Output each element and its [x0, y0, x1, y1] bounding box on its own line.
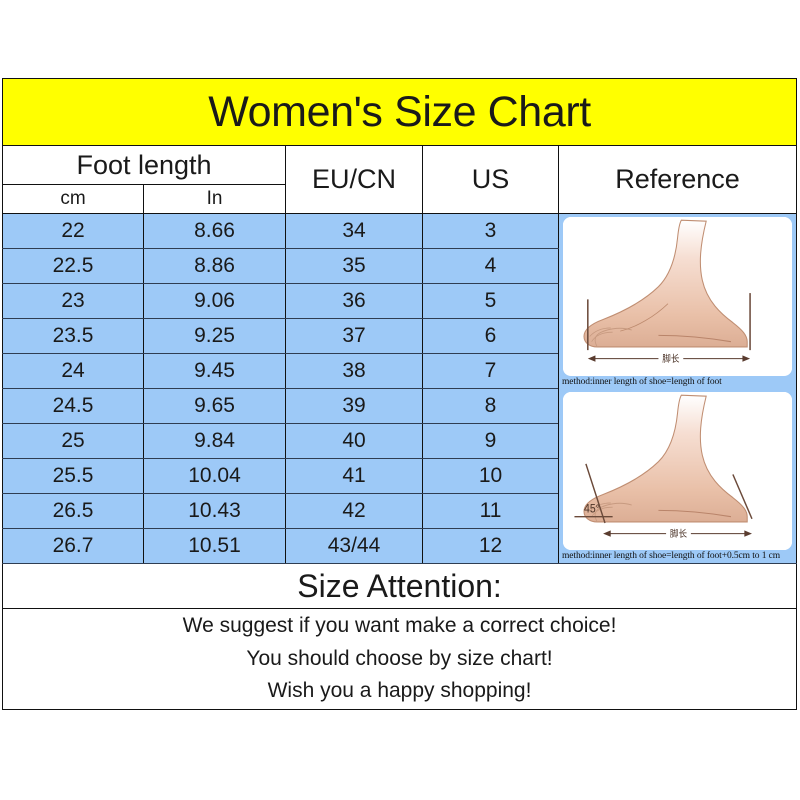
- cell-in: 8.86: [144, 249, 286, 284]
- cell-us: 7: [423, 354, 559, 389]
- svg-text:脚长: 脚长: [662, 352, 679, 364]
- cell-us: 4: [423, 249, 559, 284]
- svg-text:脚长: 脚长: [670, 527, 687, 539]
- reference-diagram-1: 脚长 method:inner length of shoe=length of…: [559, 214, 796, 389]
- cell-in: 9.45: [144, 354, 286, 389]
- size-chart-root: Women's Size Chart Foot length EU/CN US …: [0, 0, 800, 800]
- cell-in: 10.43: [144, 494, 286, 529]
- note-line-1: We suggest if you want make a correct ch…: [3, 610, 796, 643]
- foot-side-view-angled-icon: 45° 脚长: [563, 392, 792, 551]
- cell-eu: 43/44: [286, 529, 423, 564]
- note-line-3: Wish you a happy shopping!: [3, 675, 796, 708]
- header-cm: cm: [3, 185, 144, 214]
- reference-diagram-2: 45° 脚长 method:inner length of shoe=lengt…: [559, 389, 796, 564]
- header-foot-length: Foot length: [3, 146, 286, 185]
- title-row: Women's Size Chart: [3, 79, 797, 146]
- size-attention-notes: We suggest if you want make a correct ch…: [3, 609, 797, 710]
- reference-caption-1: method:inner length of shoe=length of fo…: [559, 376, 796, 389]
- cell-us: 6: [423, 319, 559, 354]
- note-line-2: You should choose by size chart!: [3, 643, 796, 676]
- cell-eu: 42: [286, 494, 423, 529]
- cell-eu: 38: [286, 354, 423, 389]
- page-title: Women's Size Chart: [3, 79, 797, 146]
- cell-in: 10.04: [144, 459, 286, 494]
- reference-column: 脚长 method:inner length of shoe=length of…: [559, 214, 797, 564]
- cell-cm: 22.5: [3, 249, 144, 284]
- cell-us: 12: [423, 529, 559, 564]
- cell-cm: 25.5: [3, 459, 144, 494]
- cell-in: 10.51: [144, 529, 286, 564]
- cell-eu: 34: [286, 214, 423, 249]
- cell-us: 9: [423, 424, 559, 459]
- angle-label: 45°: [584, 503, 600, 516]
- cell-in: 9.65: [144, 389, 286, 424]
- cell-eu: 40: [286, 424, 423, 459]
- attention-heading-row: Size Attention:: [3, 564, 797, 609]
- header-group-row: Foot length EU/CN US Reference: [3, 146, 797, 185]
- cell-in: 9.25: [144, 319, 286, 354]
- cell-eu: 41: [286, 459, 423, 494]
- cell-us: 11: [423, 494, 559, 529]
- foot-side-view-icon: 脚长: [563, 217, 792, 376]
- header-eu-cn: EU/CN: [286, 146, 423, 214]
- cell-in: 9.84: [144, 424, 286, 459]
- cell-cm: 26.7: [3, 529, 144, 564]
- reference-caption-2: method:inner length of shoe=length of fo…: [559, 550, 796, 563]
- size-attention-heading: Size Attention:: [3, 564, 797, 609]
- cell-eu: 37: [286, 319, 423, 354]
- cell-in: 8.66: [144, 214, 286, 249]
- header-us: US: [423, 146, 559, 214]
- cell-cm: 23: [3, 284, 144, 319]
- cell-us: 8: [423, 389, 559, 424]
- size-chart-table: Women's Size Chart Foot length EU/CN US …: [2, 78, 797, 710]
- table-row: 22 8.66 34 3: [3, 214, 797, 249]
- cell-eu: 39: [286, 389, 423, 424]
- cell-us: 10: [423, 459, 559, 494]
- cell-cm: 26.5: [3, 494, 144, 529]
- cell-eu: 36: [286, 284, 423, 319]
- cell-cm: 22: [3, 214, 144, 249]
- cell-cm: 24: [3, 354, 144, 389]
- cell-us: 5: [423, 284, 559, 319]
- cell-in: 9.06: [144, 284, 286, 319]
- attention-notes-row: We suggest if you want make a correct ch…: [3, 609, 797, 710]
- header-reference: Reference: [559, 146, 797, 214]
- cell-us: 3: [423, 214, 559, 249]
- cell-cm: 23.5: [3, 319, 144, 354]
- header-in: In: [144, 185, 286, 214]
- cell-eu: 35: [286, 249, 423, 284]
- cell-cm: 25: [3, 424, 144, 459]
- cell-cm: 24.5: [3, 389, 144, 424]
